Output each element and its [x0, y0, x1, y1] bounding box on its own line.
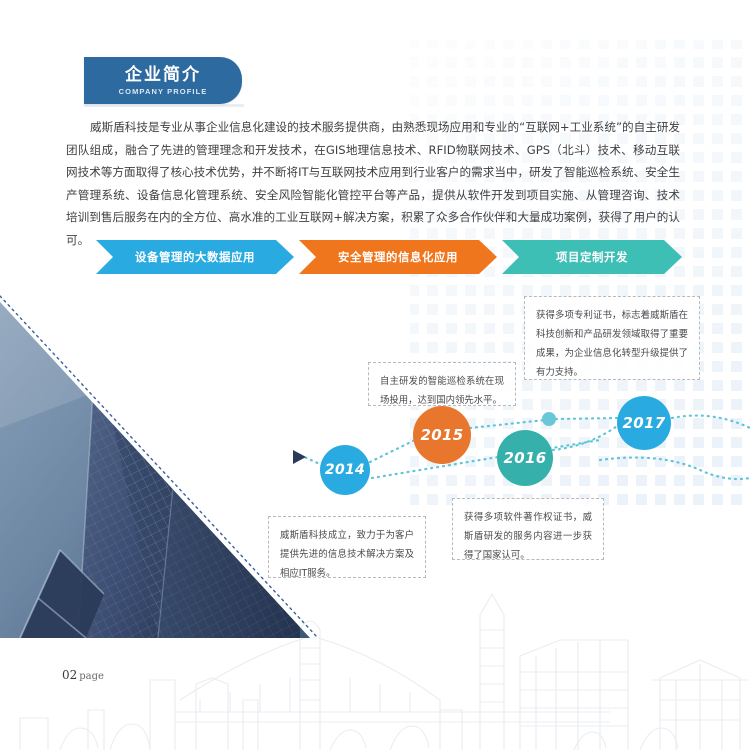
- timeline-milestone-2016[interactable]: 2016: [497, 430, 553, 486]
- service-banner-group: [96, 240, 682, 274]
- timeline-milestone-2015[interactable]: 2015: [413, 406, 471, 464]
- timeline-milestone-2017[interactable]: 2017: [617, 396, 671, 450]
- service-banner-2[interactable]: [502, 240, 682, 274]
- page-number-value: 02: [62, 668, 77, 682]
- building-photo: [0, 238, 320, 638]
- callout-patent: 获得多项专利证书，标志着威斯盾在科技创新和产品研发领域取得了重要成果，为企业信息…: [524, 296, 700, 380]
- page-number-word: page: [79, 671, 104, 682]
- callout-inspection-system: 自主研发的智能巡检系统在现场投用，达到国内领先水平。: [368, 362, 516, 406]
- section-title-en: COMPANY PROFILE: [119, 87, 208, 96]
- milestone-year-label: 2016: [504, 449, 547, 467]
- section-title-underline: [84, 104, 244, 107]
- callout-founding: 威斯盾科技成立，致力于为客户提供先进的信息技术解决方案及相应IT服务。: [268, 516, 426, 578]
- timeline-start-marker: [293, 450, 306, 464]
- timeline-milestone-2014[interactable]: 2014: [320, 445, 370, 495]
- service-banner-1[interactable]: [299, 240, 497, 274]
- milestone-year-label: 2014: [325, 462, 365, 478]
- timeline-node-dot: [542, 412, 556, 426]
- company-intro-paragraph: 威斯盾科技是专业从事企业信息化建设的技术服务提供商，由熟悉现场应用和专业的“互联…: [66, 116, 680, 252]
- company-profile-page: 企业简介 COMPANY PROFILE 威斯盾科技是专业从事企业信息化建设的技…: [0, 0, 750, 750]
- glass-skyscraper-illustration: [0, 238, 320, 638]
- callout-software-copyright: 获得多项软件著作权证书，威斯盾研发的服务内容进一步获得了国家认可。: [452, 498, 604, 560]
- service-banner-0[interactable]: [96, 240, 294, 274]
- section-title-tab: 企业简介 COMPANY PROFILE: [84, 57, 242, 104]
- page-number: 02page: [62, 668, 104, 682]
- section-title-cn: 企业简介: [125, 65, 201, 85]
- milestone-year-label: 2017: [623, 414, 666, 432]
- milestone-year-label: 2015: [421, 426, 464, 444]
